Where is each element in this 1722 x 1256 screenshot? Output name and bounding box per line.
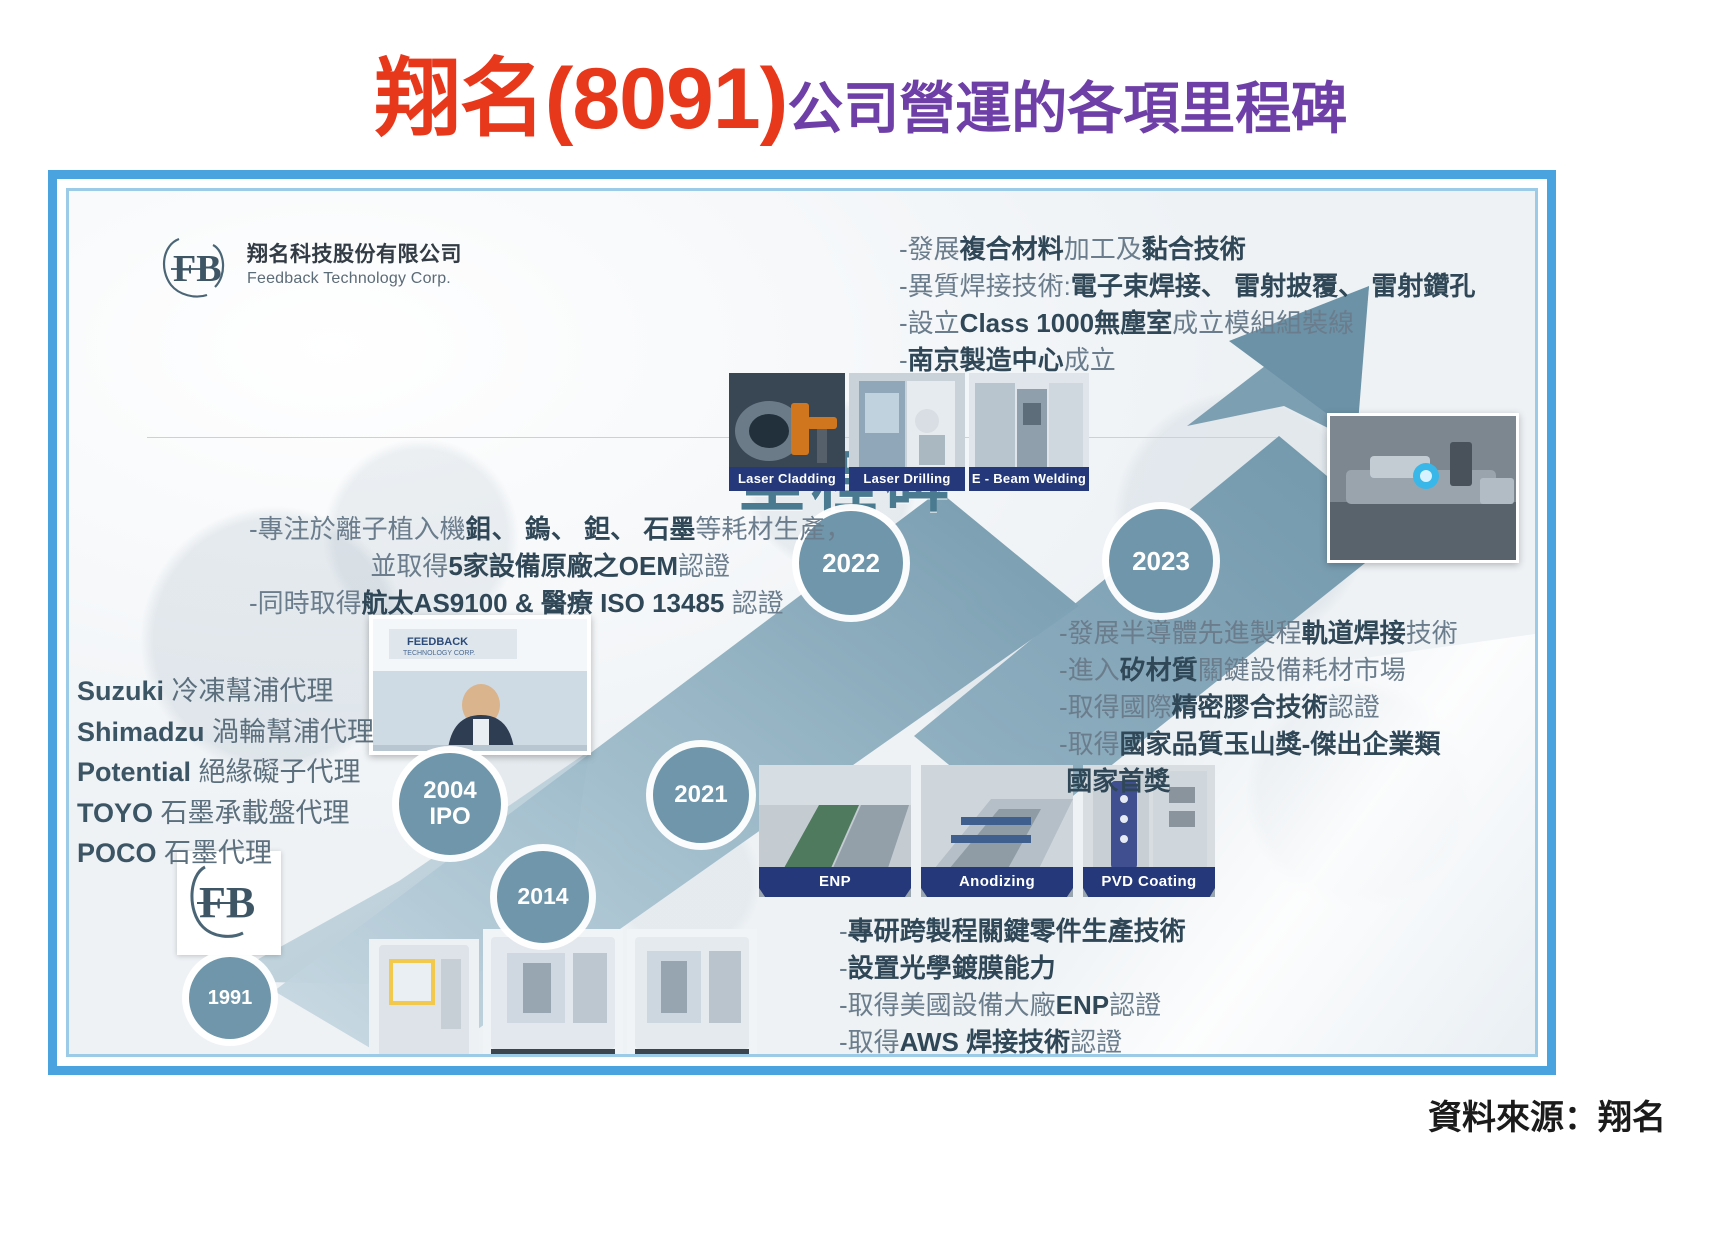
slide-root: 翔名(8091)公司營運的各項里程碑 [0,0,1722,1256]
year-label: 2021 [674,782,727,808]
year-label: 2004 [423,778,476,804]
bullet-line: -異質焊接技術:電子束焊接、 雷射披覆、 雷射鑽孔 [899,268,1475,305]
photo-caption: PVD Coating [1083,867,1215,897]
bullet-line: -設置光學鍍膜能力 [839,950,1290,987]
year-node-2023[interactable]: 2023 [1109,509,1213,613]
year-label: 1991 [208,987,253,1009]
agency-brand: POCO [77,838,157,868]
agency-brand: TOYO [77,798,153,828]
svg-text:TECHNOLOGY CORP.: TECHNOLOGY CORP. [403,650,475,657]
agency-desc: 冷凍幫浦代理 [172,676,334,706]
bullet-line: -取得AWS 焊接技術認證 [839,1024,1290,1057]
machine-3-image [627,929,757,1057]
year-node-1991[interactable]: 1991 [189,957,271,1039]
agency-desc: 石墨代理 [164,838,272,868]
logo-company-cn: 翔名科技股份有限公司 [247,242,462,268]
agency-list: Suzuki 冷凍幫浦代理 Shimadzu 渦輪幫浦代理 Potential … [77,671,374,874]
photo-enp: ENP [759,765,911,897]
photo-anodizing: Anodizing [921,765,1073,897]
agency-item: Potential 絕緣礙子代理 [77,752,374,793]
bullet-line: -南京製造中心成立 [899,342,1475,379]
year-node-2004[interactable]: 2004 IPO [399,753,501,855]
year-label: 2014 [517,884,568,909]
milestone-text-2022: -發展複合材料加工及黏合技術 -異質焊接技術:電子束焊接、 雷射披覆、 雷射鑽孔… [899,231,1475,379]
bullet-line: -發展半導體先進製程軌道焊接技術 [1059,615,1458,652]
agency-desc: 渦輪幫浦代理 [212,717,374,747]
photo-machine-3 [627,929,757,1057]
company-logo: FB 翔名科技股份有限公司 Feedback Technology Corp. [157,231,462,301]
agency-brand: Suzuki [77,676,164,706]
milestone-text-2014: -專研跨製程關鍵零件生產技術 -設置光學鍍膜能力 -取得美國設備大廠ENP認證 … [839,913,1290,1057]
photo-machine-2 [483,929,623,1057]
bullet-line: -設立Class 1000無塵室成立模組組裝線 [899,305,1475,342]
photo-caption: ENP [759,867,911,897]
milestone-text-2023: -發展半導體先進製程軌道焊接技術 -進入矽材質關鍵設備耗材市場 -取得國際精密膠… [1059,615,1458,800]
year-note: IPO [429,804,470,830]
year-node-2014[interactable]: 2014 [497,851,589,943]
agency-desc: 石墨承載盤代理 [161,798,350,828]
ceo-presentation-image: FEEDBACK TECHNOLOGY CORP. [373,619,591,755]
photo-laser-drilling: Laser Drilling [849,373,965,491]
fb-monogram-icon: FB [157,231,235,301]
bullet-line: -進入矽材質關鍵設備耗材市場 [1059,652,1458,689]
photo-caption: Anodizing [921,867,1073,897]
photo-ebeam-welding: E - Beam Welding [969,373,1089,491]
agency-item: POCO 石墨代理 [77,833,374,874]
header-divider [147,437,1277,438]
photo-laser-cladding: Laser Cladding [729,373,845,491]
year-node-2021[interactable]: 2021 [653,747,749,843]
bullet-line: -同時取得航太AS9100 & 醫療 ISO 13485 認證 [249,585,851,622]
slide-canvas: FB 翔名科技股份有限公司 Feedback Technology Corp. … [66,188,1538,1057]
year-label: 2023 [1132,547,1190,576]
bullet-line: -發展複合材料加工及黏合技術 [899,231,1475,268]
agency-item: Shimadzu 渦輪幫浦代理 [77,712,374,753]
title-company: 翔名(8091) [375,51,788,147]
page-title: 翔名(8091)公司營運的各項里程碑 [0,28,1722,153]
photo-caption: Laser Drilling [849,467,965,491]
agency-brand: Shimadzu [77,717,205,747]
bullet-line: 並取得5家設備原廠之OEM認證 [249,548,851,585]
svg-text:FEEDBACK: FEEDBACK [407,636,468,648]
agency-item: Suzuki 冷凍幫浦代理 [77,671,374,712]
agency-desc: 絕緣礙子代理 [199,757,361,787]
bullet-line: -取得美國設備大廠ENP認證 [839,987,1290,1024]
bullet-line: -專研跨製程關鍵零件生產技術 [839,913,1290,950]
milestone-text-2021: -專注於離子植入機鉬、 鎢、 鉭、 石墨等耗材生產， 並取得5家設備原廠之OEM… [249,511,851,622]
logo-text: 翔名科技股份有限公司 Feedback Technology Corp. [247,242,462,289]
photo-precision-welding [1327,413,1519,563]
photo-ceo-presentation: FEEDBACK TECHNOLOGY CORP. [369,615,591,755]
machine-1-image [369,939,479,1057]
photo-caption: E - Beam Welding [969,467,1089,491]
title-subtitle: 公司營運的各項里程碑 [787,77,1347,140]
logo-company-en: Feedback Technology Corp. [247,269,462,290]
bullet-line: -取得國家品質玉山獎-傑出企業類 [1059,726,1458,763]
photo-caption: Laser Cladding [729,467,845,491]
photo-machine-1 [369,939,479,1057]
agency-brand: Potential [77,757,191,787]
bullet-line: -專注於離子植入機鉬、 鎢、 鉭、 石墨等耗材生產， [249,511,851,548]
source-note: 資料來源：翔名 [1428,1090,1666,1139]
agency-item: TOYO 石墨承載盤代理 [77,793,374,834]
precision-welding-image [1330,416,1519,563]
machine-2-image [483,929,623,1057]
slide-frame: FB 翔名科技股份有限公司 Feedback Technology Corp. … [48,170,1556,1075]
bullet-line: -取得國際精密膠合技術認證 [1059,689,1458,726]
bullet-line: 國家首獎 [1059,763,1458,800]
